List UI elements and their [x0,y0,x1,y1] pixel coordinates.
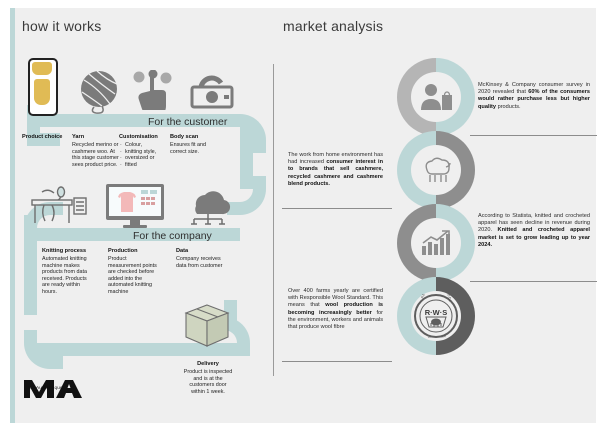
design-monitor-icon [105,183,165,234]
market-ring-3-center [411,218,461,268]
shopper-icon [419,83,453,111]
step-body: Product measurement points are checked b… [108,256,160,296]
step-product-choice: Product choice [22,134,74,142]
band-label-customer: For the customer [148,116,227,128]
delivery-box-icon [183,303,231,354]
text-part: products. [496,104,521,110]
step-title: Production [108,248,160,255]
step-title: Body scan [170,134,222,141]
market-text-statista: According to Statista, knitted and croch… [478,213,590,249]
step-body: Company receives data from customer [176,256,228,269]
step-title: Delivery [183,361,233,368]
left-accent-bar [10,8,15,423]
market-rule-2 [282,208,392,209]
market-text-mckinsey: McKinsey & Company consumer survey in 20… [478,82,590,111]
step-data: Data Company receives data from customer [176,248,228,269]
page-title-how-it-works: how it works [22,18,101,34]
market-text-rws: Over 400 farms yearly are certified with… [288,288,383,331]
step-title: Yarn [72,134,124,141]
market-ring-1-center [411,72,461,122]
step-body-scan: Body scan Ensures fit and correct size. [170,134,222,155]
step-customisation: Customisation Colour, knitting style, ov… [119,134,165,168]
step-body: Recycled merino or cashmere woo. At this… [72,142,124,168]
step-title: Product choice [22,134,74,141]
body-scan-camera-icon [189,72,235,115]
infographic-page: how it works market analysis For the cus… [0,0,606,431]
tap-gesture-customisation-icon [133,70,175,115]
step-title: Customisation [119,134,165,141]
phone-product-choice-icon [28,58,58,116]
market-ring-2-center [411,145,461,195]
step-body: Product is inspected and is at the custo… [183,369,233,395]
yarn-ball-icon [80,70,120,121]
market-rule-1 [470,135,597,136]
market-rule-4 [282,361,392,362]
brand-logo: Ma Authentique [22,374,82,410]
market-text-work-from-home: The work from home environment has had i… [288,152,383,188]
step-bullet: fitted [125,162,165,169]
step-bullet: knitting style, [125,149,165,156]
knitting-machine-icon [30,186,92,231]
step-knitting-process: Knitting process Automated knitting mach… [42,248,94,296]
step-production: Production Product measurement points ar… [108,248,160,296]
step-body: Ensures fit and correct size. [170,142,222,155]
step-bullet-list: Colour, knitting style, oversized or fit… [119,142,165,168]
rws-center-text: R·W·S [425,308,448,317]
cloud-data-icon [185,186,231,231]
step-bullet: Colour, [125,142,165,149]
market-rule-3 [470,281,597,282]
step-delivery: Delivery Product is inspected and is at … [183,361,233,395]
page-title-market-analysis: market analysis [283,18,383,34]
brand-name: Ma Authentique [28,385,63,390]
sheep-icon [419,156,453,184]
rws-badge-icon: RESPONSIBLE WOOL STANDARD R·W·S CERTIFIE… [414,294,458,338]
growth-chart-icon [420,229,452,257]
step-title: Data [176,248,228,255]
step-bullet: oversized or [125,155,165,162]
step-title: Knitting process [42,248,94,255]
step-yarn: Yarn Recycled merino or cashmere woo. At… [72,134,124,168]
market-ring-4-center: RESPONSIBLE WOOL STANDARD R·W·S CERTIFIE… [411,291,461,341]
step-body: Automated knitting machine makes product… [42,256,94,296]
panel-divider [273,64,274,376]
